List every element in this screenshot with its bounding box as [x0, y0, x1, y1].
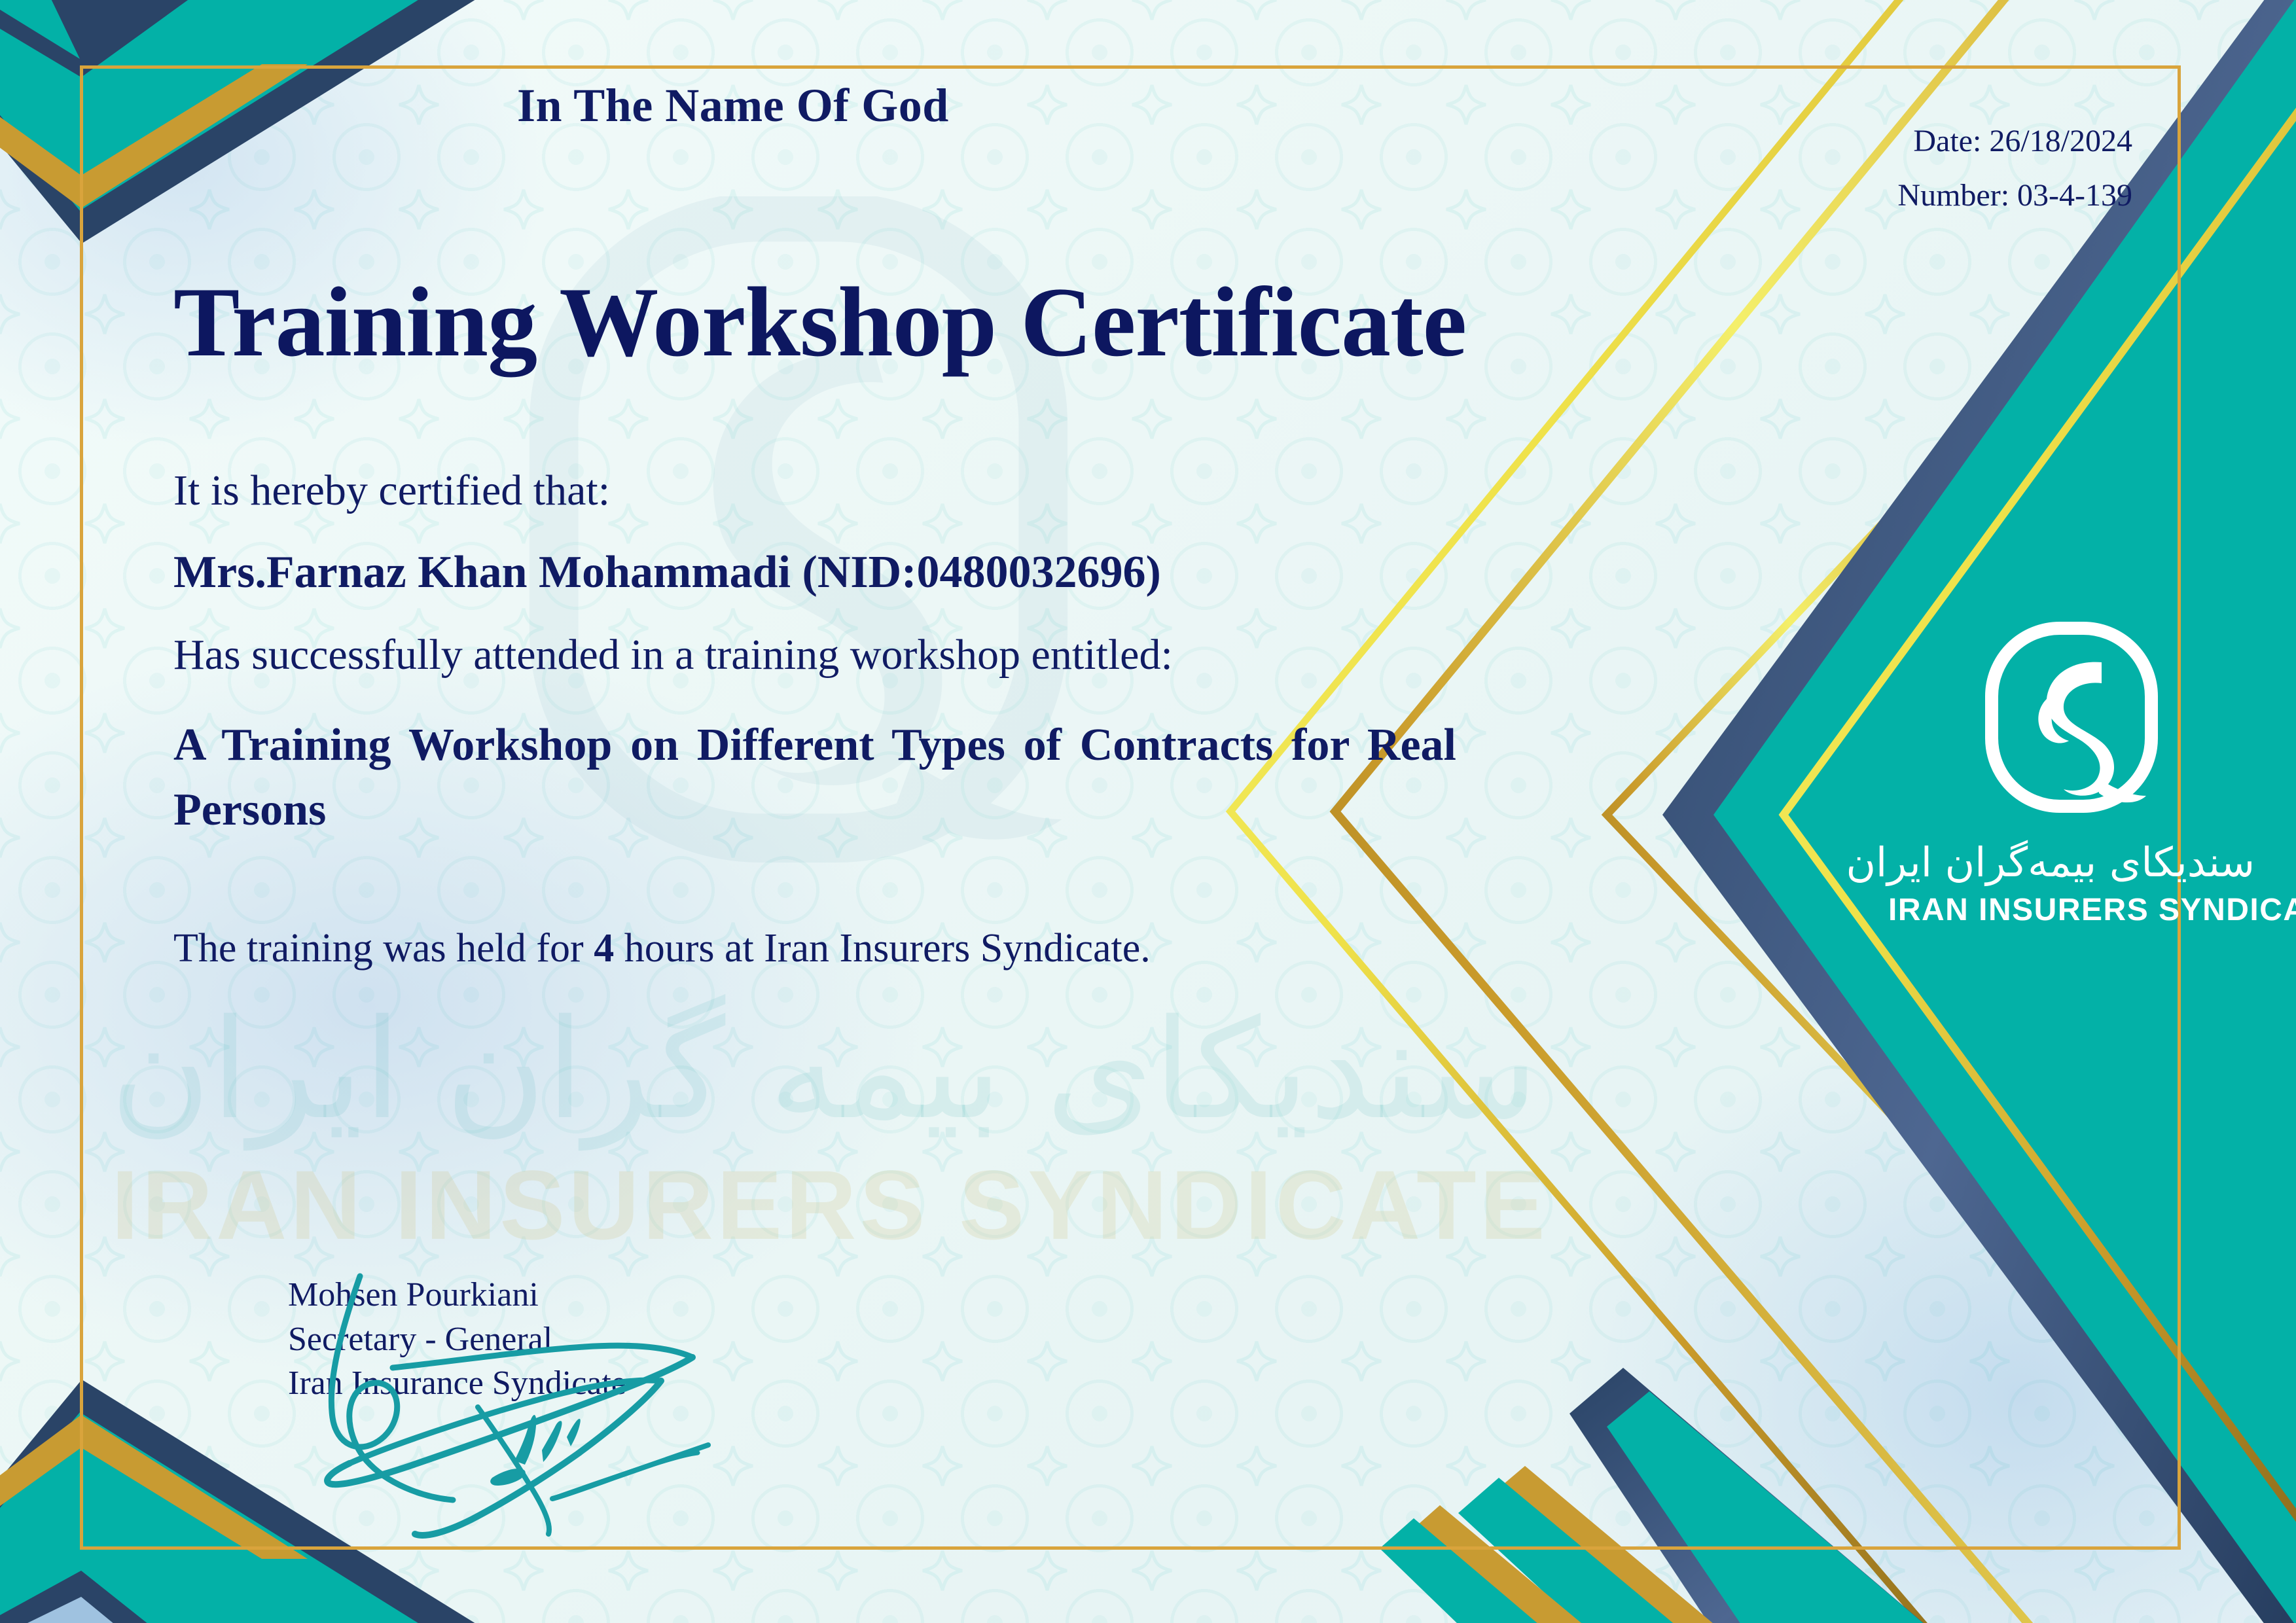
hours-prefix: The training was held for: [173, 926, 584, 971]
certificate-body: It is hereby certified that: Mrs.Farnaz …: [173, 468, 1456, 970]
chevron-top-left: [0, 0, 517, 243]
training-hours-line: The training was held for 4 hours at Ira…: [173, 927, 1456, 970]
hours-suffix: hours at Iran Insurers Syndicate.: [624, 926, 1151, 971]
hours-value: 4: [594, 926, 614, 971]
certificate-number: Number: 03-4-139: [1897, 169, 2132, 223]
attended-line: Has successfully attended in a training …: [173, 632, 1456, 677]
certify-line: It is hereby certified that:: [173, 468, 1456, 513]
course-title: A Training Workshop on Different Types o…: [173, 713, 1456, 908]
emblem-name-english: IRAN INSURERS SYNDICATE: [1888, 893, 2255, 928]
syndicate-emblem: سندیکای بیمه‌گران ایران IRAN INSURERS SY…: [1888, 622, 2255, 928]
syndicate-logo-icon: [1973, 622, 2170, 825]
signatory-organization: Iran Insurance Syndicate: [288, 1361, 626, 1406]
emblem-name-persian: سندیکای بیمه‌گران ایران: [1888, 839, 2255, 885]
issue-date: Date: 26/18/2024: [1897, 115, 2132, 169]
signature-block: Mohsen Pourkiani Secretary - General Ira…: [288, 1273, 626, 1406]
page-title: Training Workshop Certificate: [173, 265, 1466, 379]
signatory-name: Mohsen Pourkiani: [288, 1273, 626, 1317]
recipient-name: Mrs.Farnaz Khan Mohammadi (NID:048003269…: [173, 548, 1456, 597]
certificate-page: سندیکای بیمه گران ایران IRAN INSURERS SY…: [0, 0, 2296, 1623]
signatory-role: Secretary - General: [288, 1317, 626, 1362]
bottom-right-bands: [1380, 1329, 2068, 1623]
chevron-bottom-left: [0, 1380, 517, 1623]
bismillah-heading: In The Name Of God: [517, 79, 949, 133]
certificate-meta: Date: 26/18/2024 Number: 03-4-139: [1897, 115, 2132, 223]
